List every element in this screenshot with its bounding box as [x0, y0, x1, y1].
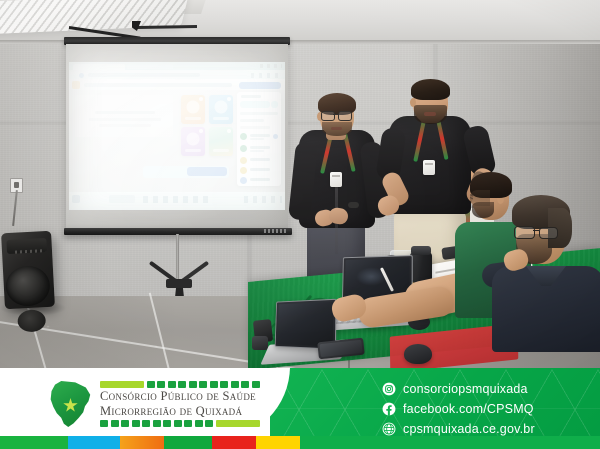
eyeglasses-icon	[514, 226, 558, 237]
dash	[220, 381, 228, 388]
dash	[157, 381, 165, 388]
dash	[252, 381, 260, 388]
computer-mouse	[404, 344, 432, 364]
lens-right	[338, 111, 352, 121]
eyeglasses-icon	[321, 111, 352, 119]
dash	[184, 420, 192, 427]
dash	[205, 420, 213, 427]
presenter-left-mouth	[331, 127, 342, 130]
footer-banner: Consórcio Público de Saúde Microrregião …	[0, 368, 600, 449]
dash-long	[100, 381, 144, 388]
stripe-orange	[120, 436, 164, 449]
dash	[241, 381, 249, 388]
speaker-control-panel	[6, 238, 47, 254]
presenter-right-hair	[411, 79, 450, 100]
cpsmq-logo: Consórcio Público de Saúde Microrregião …	[48, 380, 248, 428]
screen-brand-label	[264, 229, 288, 233]
dash	[132, 420, 140, 427]
color-stripe	[0, 436, 600, 449]
phone-screen	[319, 340, 362, 357]
stripe-green	[0, 436, 68, 449]
stripe-blue	[68, 436, 120, 449]
dash	[100, 420, 108, 427]
facebook-icon	[382, 402, 396, 416]
dash	[111, 420, 119, 427]
dash	[178, 381, 186, 388]
instagram-icon	[382, 382, 396, 396]
tripod-head	[166, 279, 192, 288]
lens-right	[539, 227, 558, 239]
dash	[163, 420, 171, 427]
logo-line-2: Microrregião de Quixadá	[100, 405, 260, 418]
dash	[195, 420, 203, 427]
dash	[210, 381, 218, 388]
lens-left	[514, 226, 535, 239]
attendee-center-hair-fade	[470, 190, 490, 206]
power-adapter	[252, 336, 268, 350]
dash	[121, 420, 129, 427]
logo-dash-bar-top	[100, 381, 260, 388]
stripe-green-2	[164, 436, 212, 449]
speaker-led-indicators	[15, 249, 45, 254]
lens-left	[321, 111, 335, 121]
social-website-label: cpsmquixada.ce.gov.br	[403, 422, 535, 436]
social-facebook-label: facebook.com/CPSMQ	[403, 402, 534, 416]
laptop-display	[277, 302, 333, 346]
ceara-map-icon	[48, 381, 92, 427]
social-instagram[interactable]: consorciopsmquixada	[382, 382, 535, 396]
stripe-yellow	[256, 436, 300, 449]
logo-dash-bar-bottom	[100, 420, 260, 427]
dash-long	[216, 420, 260, 427]
logo-line-1: Consórcio Público de Saúde	[100, 390, 260, 403]
wristwatch	[348, 202, 359, 208]
speaker-grille	[5, 265, 51, 307]
stripe-green-3	[300, 436, 600, 449]
social-instagram-label: consorciopsmquixada	[403, 382, 528, 396]
attendee-foreground	[496, 198, 600, 350]
social-links: consorciopsmquixada facebook.com/CPSMQ	[382, 382, 535, 436]
presenter-left-id-badge	[330, 172, 342, 187]
screenshot-root: Consórcio Público de Saúde Microrregião …	[0, 0, 600, 449]
portable-speaker	[1, 231, 55, 310]
dash	[168, 381, 176, 388]
screen-vignette	[66, 44, 288, 229]
dash	[231, 381, 239, 388]
social-facebook[interactable]: facebook.com/CPSMQ	[382, 402, 535, 416]
bottle-cap	[411, 246, 431, 255]
logo-wordmark: Consórcio Público de Saúde Microrregião …	[100, 381, 260, 428]
globe-icon	[382, 422, 396, 436]
presenter-right-id-badge	[423, 160, 435, 175]
social-website[interactable]: cpsmquixada.ce.gov.br	[382, 422, 535, 436]
projection-screen	[66, 44, 288, 229]
stripe-red	[212, 436, 256, 449]
dash	[142, 420, 150, 427]
dash	[147, 381, 155, 388]
presenter-right-mouth	[424, 112, 436, 116]
dash	[199, 381, 207, 388]
dash	[153, 420, 161, 427]
dash	[174, 420, 182, 427]
dash	[189, 381, 197, 388]
